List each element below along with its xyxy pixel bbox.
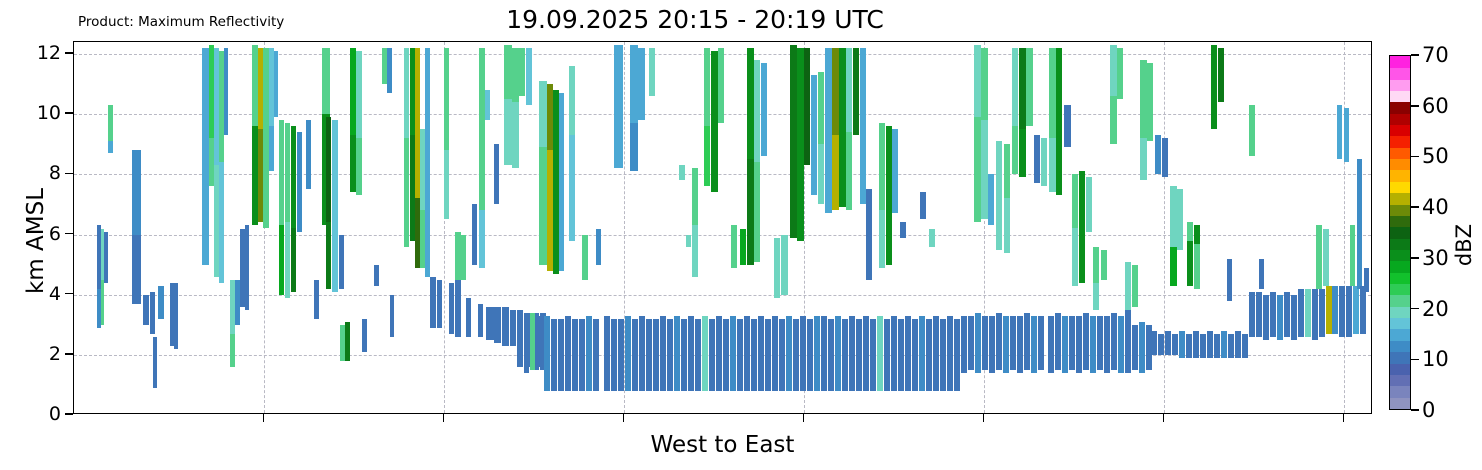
reflectivity-segment (898, 319, 904, 391)
reflectivity-segment (1072, 228, 1078, 285)
reflectivity-segment (1072, 174, 1078, 228)
reflectivity-segment (1179, 331, 1185, 358)
reflectivity-segment (718, 48, 724, 123)
reflectivity-column (695, 319, 701, 391)
reflectivity-column (761, 63, 767, 156)
reflectivity-column (174, 283, 178, 349)
y-axis-tick-label: 8 (49, 162, 61, 184)
y-axis-tick-mark (65, 353, 73, 355)
reflectivity-segment (704, 126, 710, 186)
reflectivity-column (1170, 186, 1177, 285)
reflectivity-column (919, 316, 925, 391)
colorbar-segment (1390, 238, 1410, 250)
reflectivity-segment (933, 316, 939, 391)
reflectivity-column (326, 117, 331, 288)
reflectivity-segment (425, 48, 430, 165)
reflectivity-segment (692, 225, 698, 276)
reflectivity-column (638, 48, 645, 120)
reflectivity-segment (558, 319, 564, 391)
reflectivity-column (524, 316, 529, 373)
reflectivity-column (1083, 313, 1089, 370)
reflectivity-column (860, 48, 866, 204)
reflectivity-column (988, 174, 994, 225)
reflectivity-column (202, 48, 209, 265)
reflectivity-segment (374, 265, 379, 286)
reflectivity-segment (667, 319, 673, 391)
reflectivity-segment (1211, 45, 1217, 99)
reflectivity-segment (818, 144, 824, 204)
reflectivity-segment (526, 48, 532, 105)
reflectivity-column (593, 319, 599, 391)
reflectivity-segment (1193, 331, 1199, 358)
reflectivity-segment (1055, 313, 1061, 370)
reflectivity-column (961, 316, 967, 373)
reflectivity-segment (1140, 60, 1147, 138)
y-axis-tick-mark (65, 413, 73, 415)
reflectivity-column (688, 316, 694, 391)
colorbar-segment (1390, 227, 1410, 239)
reflectivity-segment (1177, 189, 1183, 249)
reflectivity-segment (856, 319, 862, 391)
reflectivity-column (486, 307, 494, 340)
reflectivity-segment (1249, 292, 1255, 337)
reflectivity-segment (1214, 334, 1220, 358)
reflectivity-segment (886, 207, 892, 264)
reflectivity-column (842, 319, 848, 391)
reflectivity-column (1140, 60, 1147, 180)
reflectivity-column (774, 238, 780, 298)
reflectivity-column (846, 48, 852, 210)
reflectivity-column (1104, 316, 1110, 373)
reflectivity-segment (437, 280, 442, 328)
reflectivity-column (1132, 325, 1138, 370)
reflectivity-column (639, 316, 645, 391)
reflectivity-column (879, 123, 885, 267)
reflectivity-column (1305, 289, 1311, 337)
colorbar-segment (1390, 147, 1410, 159)
reflectivity-segment (849, 316, 855, 391)
reflectivity-segment (758, 316, 764, 391)
reflectivity-column (1207, 331, 1213, 358)
reflectivity-segment (559, 150, 564, 270)
reflectivity-column (1312, 289, 1318, 340)
reflectivity-segment (1024, 313, 1030, 370)
reflectivity-segment (611, 319, 617, 391)
reflectivity-column (1165, 331, 1171, 355)
reflectivity-segment (723, 319, 729, 391)
colorbar-segment (1390, 102, 1410, 114)
reflectivity-column (933, 316, 939, 391)
colorbar-tick-mark (1411, 409, 1419, 411)
reflectivity-column (572, 319, 578, 391)
reflectivity-column (345, 322, 350, 361)
reflectivity-segment (649, 48, 655, 96)
reflectivity-segment (326, 117, 331, 222)
reflectivity-column (485, 90, 490, 120)
reflectivity-column (479, 48, 485, 268)
reflectivity-segment (1270, 292, 1276, 337)
reflectivity-segment (279, 225, 284, 294)
reflectivity-column (466, 298, 471, 337)
y-axis-tick-label: 0 (49, 403, 61, 425)
x-axis-tick-mark (443, 414, 444, 422)
reflectivity-segment (781, 235, 788, 295)
reflectivity-segment (104, 232, 108, 283)
reflectivity-segment (797, 162, 804, 240)
reflectivity-column (926, 319, 932, 391)
reflectivity-segment (1235, 331, 1241, 358)
reflectivity-column (1072, 174, 1078, 285)
reflectivity-segment (486, 307, 494, 340)
reflectivity-column (1117, 48, 1123, 99)
reflectivity-column (982, 316, 988, 370)
reflectivity-column (772, 316, 778, 391)
reflectivity-segment (1263, 295, 1269, 340)
reflectivity-segment (1344, 108, 1349, 162)
colorbar-segment (1390, 136, 1410, 148)
reflectivity-column (1125, 325, 1131, 373)
reflectivity-column (1344, 108, 1349, 162)
reflectivity-segment (224, 48, 228, 135)
reflectivity-column (731, 225, 737, 267)
radar-cross-section-figure: 19.09.2025 20:15 - 20:19 UTC Product: Ma… (0, 0, 1482, 470)
reflectivity-segment (1170, 186, 1177, 246)
reflectivity-segment (730, 316, 736, 391)
reflectivity-column (536, 316, 541, 367)
reflectivity-column (512, 48, 519, 168)
reflectivity-column (1019, 48, 1026, 177)
reflectivity-segment (494, 307, 501, 343)
reflectivity-segment (291, 126, 296, 228)
reflectivity-segment (892, 129, 898, 213)
reflectivity-segment (988, 174, 994, 225)
reflectivity-column (1357, 159, 1362, 288)
reflectivity-segment (1069, 316, 1075, 370)
reflectivity-segment (737, 319, 743, 391)
reflectivity-column (224, 48, 228, 135)
reflectivity-segment (828, 319, 834, 391)
reflectivity-column (630, 45, 638, 171)
reflectivity-column (1132, 265, 1138, 307)
reflectivity-column (430, 277, 436, 328)
reflectivity-column (723, 319, 729, 391)
reflectivity-column (793, 319, 799, 391)
reflectivity-column (504, 45, 512, 165)
reflectivity-segment (143, 295, 149, 325)
x-axis-tick-mark (263, 414, 264, 422)
reflectivity-column (150, 292, 155, 334)
reflectivity-column (853, 48, 859, 135)
reflectivity-segment (478, 304, 483, 337)
reflectivity-segment (569, 66, 575, 135)
colorbar-tick-mark (1411, 54, 1419, 56)
reflectivity-segment (961, 316, 967, 373)
colorbar-segment (1390, 181, 1410, 193)
colorbar (1389, 55, 1411, 410)
reflectivity-segment (1012, 48, 1018, 126)
reflectivity-column (1064, 105, 1071, 147)
reflectivity-segment (754, 60, 760, 162)
reflectivity-segment (559, 93, 564, 150)
reflectivity-segment (630, 45, 638, 123)
reflectivity-segment (108, 105, 113, 141)
reflectivity-segment (790, 45, 797, 165)
reflectivity-segment (517, 310, 523, 367)
reflectivity-column (811, 75, 817, 195)
reflectivity-segment (551, 319, 557, 391)
reflectivity-column (754, 60, 760, 262)
reflectivity-column (1249, 105, 1255, 156)
reflectivity-column (339, 235, 344, 289)
reflectivity-column (835, 316, 841, 391)
reflectivity-column (1316, 225, 1322, 288)
reflectivity-column (449, 283, 454, 334)
reflectivity-column (1151, 331, 1157, 355)
reflectivity-segment (884, 319, 890, 391)
reflectivity-segment (1026, 48, 1033, 126)
reflectivity-column (425, 48, 430, 277)
y-axis-tick-mark (65, 233, 73, 235)
reflectivity-segment (479, 48, 485, 210)
reflectivity-segment (1012, 126, 1018, 174)
reflectivity-column (1090, 316, 1096, 373)
reflectivity-column (143, 295, 149, 325)
reflectivity-segment (586, 316, 592, 391)
reflectivity-column (765, 319, 771, 391)
reflectivity-segment (996, 195, 1002, 249)
reflectivity-segment (1172, 334, 1178, 355)
reflectivity-segment (821, 316, 827, 391)
colorbar-segment (1390, 363, 1410, 375)
reflectivity-segment (1165, 331, 1171, 355)
reflectivity-segment (811, 75, 817, 132)
reflectivity-segment (1194, 244, 1200, 289)
reflectivity-column (1056, 48, 1062, 195)
colorbar-segment (1390, 79, 1410, 91)
reflectivity-segment (981, 48, 988, 120)
reflectivity-segment (504, 45, 512, 99)
reflectivity-column (1337, 105, 1342, 159)
reflectivity-column (751, 319, 757, 391)
y-axis-tick-mark (65, 173, 73, 175)
reflectivity-column (1177, 189, 1183, 249)
reflectivity-column (519, 48, 525, 96)
colorbar-tick-mark (1411, 206, 1419, 208)
reflectivity-segment (716, 316, 722, 391)
reflectivity-column (758, 316, 764, 391)
reflectivity-segment (711, 126, 718, 192)
reflectivity-segment (774, 238, 780, 298)
reflectivity-column (974, 45, 981, 222)
reflectivity-column (1346, 286, 1352, 337)
reflectivity-column (1017, 316, 1023, 373)
reflectivity-segment (919, 316, 925, 391)
reflectivity-segment (688, 316, 694, 391)
reflectivity-column (387, 48, 392, 93)
reflectivity-column (285, 123, 290, 297)
reflectivity-segment (1353, 286, 1359, 334)
reflectivity-segment (646, 319, 652, 391)
reflectivity-column (740, 229, 746, 265)
reflectivity-column (582, 235, 588, 280)
reflectivity-column (437, 280, 442, 328)
reflectivity-column (374, 265, 379, 286)
x-axis-tick-mark (983, 414, 984, 422)
reflectivity-segment (1093, 283, 1099, 310)
reflectivity-segment (387, 48, 392, 93)
reflectivity-column (686, 235, 691, 247)
reflectivity-segment (101, 280, 104, 325)
reflectivity-column (153, 337, 157, 388)
reflectivity-segment (1360, 286, 1366, 334)
reflectivity-segment (900, 222, 906, 237)
y-axis: km AMSL 024681012 (0, 0, 73, 470)
reflectivity-column (1010, 316, 1016, 370)
colorbar-tick-label: 0 (1422, 398, 1435, 422)
reflectivity-segment (1101, 250, 1107, 280)
reflectivity-segment (306, 120, 311, 189)
reflectivity-column (539, 81, 547, 264)
reflectivity-column (1249, 292, 1255, 337)
reflectivity-segment (1284, 292, 1290, 316)
reflectivity-column (579, 319, 585, 391)
reflectivity-column (747, 48, 754, 265)
reflectivity-segment (1139, 322, 1145, 373)
reflectivity-segment (524, 316, 529, 373)
reflectivity-column (681, 319, 687, 391)
y-axis-tick-label: 6 (49, 223, 61, 245)
reflectivity-segment (912, 319, 918, 391)
reflectivity-segment (519, 48, 525, 96)
reflectivity-columns (74, 42, 1371, 413)
reflectivity-column (1291, 295, 1297, 340)
y-axis-tick-mark (65, 293, 73, 295)
reflectivity-segment (679, 165, 685, 180)
reflectivity-segment (269, 126, 274, 171)
plot-area (73, 41, 1372, 414)
reflectivity-segment (1132, 265, 1138, 307)
reflectivity-segment (1357, 159, 1362, 288)
reflectivity-segment (1364, 268, 1369, 292)
reflectivity-segment (455, 280, 461, 337)
reflectivity-column (818, 72, 824, 204)
reflectivity-segment (1158, 334, 1164, 355)
reflectivity-segment (839, 129, 846, 207)
reflectivity-segment (425, 165, 430, 276)
reflectivity-segment (1170, 247, 1177, 286)
reflectivity-segment (926, 319, 932, 391)
reflectivity-segment (1211, 99, 1217, 129)
reflectivity-column (461, 235, 466, 280)
y-axis-tick-mark (65, 112, 73, 114)
reflectivity-column (702, 316, 708, 391)
reflectivity-segment (846, 132, 852, 210)
reflectivity-segment (279, 120, 284, 225)
reflectivity-column (1097, 316, 1103, 370)
reflectivity-segment (832, 48, 839, 135)
reflectivity-column (618, 319, 624, 391)
reflectivity-segment (797, 48, 804, 162)
reflectivity-column (884, 319, 890, 391)
reflectivity-segment (1319, 289, 1325, 337)
reflectivity-column (1079, 171, 1085, 282)
reflectivity-segment (866, 189, 872, 279)
reflectivity-segment (772, 316, 778, 391)
reflectivity-segment (1056, 141, 1062, 195)
reflectivity-column (856, 319, 862, 391)
reflectivity-segment (1187, 222, 1193, 240)
reflectivity-segment (731, 225, 737, 267)
reflectivity-segment (274, 51, 278, 117)
reflectivity-segment (825, 138, 832, 213)
reflectivity-column (716, 316, 722, 391)
reflectivity-column (1048, 316, 1054, 373)
reflectivity-segment (740, 229, 746, 265)
reflectivity-segment (1186, 334, 1192, 358)
reflectivity-column (1193, 331, 1199, 358)
reflectivity-segment (968, 316, 974, 370)
reflectivity-column (804, 48, 810, 165)
reflectivity-column (1111, 313, 1117, 370)
reflectivity-segment (638, 48, 645, 120)
reflectivity-segment (870, 319, 876, 391)
reflectivity-segment (1110, 45, 1117, 96)
x-axis-tick-mark (803, 414, 804, 422)
reflectivity-column (1118, 316, 1124, 373)
reflectivity-segment (504, 99, 512, 165)
reflectivity-column (1093, 247, 1099, 310)
reflectivity-segment (804, 48, 810, 165)
reflectivity-column (1214, 334, 1220, 358)
reflectivity-segment (632, 319, 638, 391)
reflectivity-segment (905, 316, 911, 391)
colorbar-segment (1390, 215, 1410, 227)
reflectivity-segment (174, 283, 178, 349)
colorbar-segment (1390, 386, 1410, 398)
reflectivity-column (653, 319, 659, 391)
reflectivity-column (1172, 334, 1178, 355)
reflectivity-column (559, 93, 564, 270)
reflectivity-segment (1064, 105, 1071, 147)
reflectivity-segment (362, 319, 367, 352)
reflectivity-column (900, 222, 906, 237)
reflectivity-segment (1031, 316, 1037, 373)
reflectivity-column (832, 48, 839, 210)
reflectivity-column (569, 66, 575, 240)
reflectivity-segment (150, 292, 155, 334)
reflectivity-segment (530, 313, 535, 370)
colorbar-segment (1390, 56, 1410, 68)
reflectivity-segment (430, 277, 436, 328)
reflectivity-column (314, 280, 319, 319)
reflectivity-segment (596, 229, 601, 265)
reflectivity-column (1041, 138, 1047, 186)
reflectivity-column (245, 225, 249, 309)
reflectivity-segment (704, 48, 710, 126)
reflectivity-segment (1076, 316, 1082, 373)
reflectivity-segment (539, 81, 547, 147)
reflectivity-column (1155, 135, 1161, 174)
reflectivity-column (1162, 138, 1168, 177)
reflectivity-column (1076, 316, 1082, 373)
reflectivity-column (1110, 45, 1117, 144)
reflectivity-segment (614, 120, 623, 168)
reflectivity-segment (1259, 259, 1264, 289)
reflectivity-segment (1155, 135, 1161, 174)
colorbar-tick-label: 50 (1422, 144, 1449, 168)
colorbar-tick-label: 60 (1422, 94, 1449, 118)
colorbar-segment (1390, 170, 1410, 182)
